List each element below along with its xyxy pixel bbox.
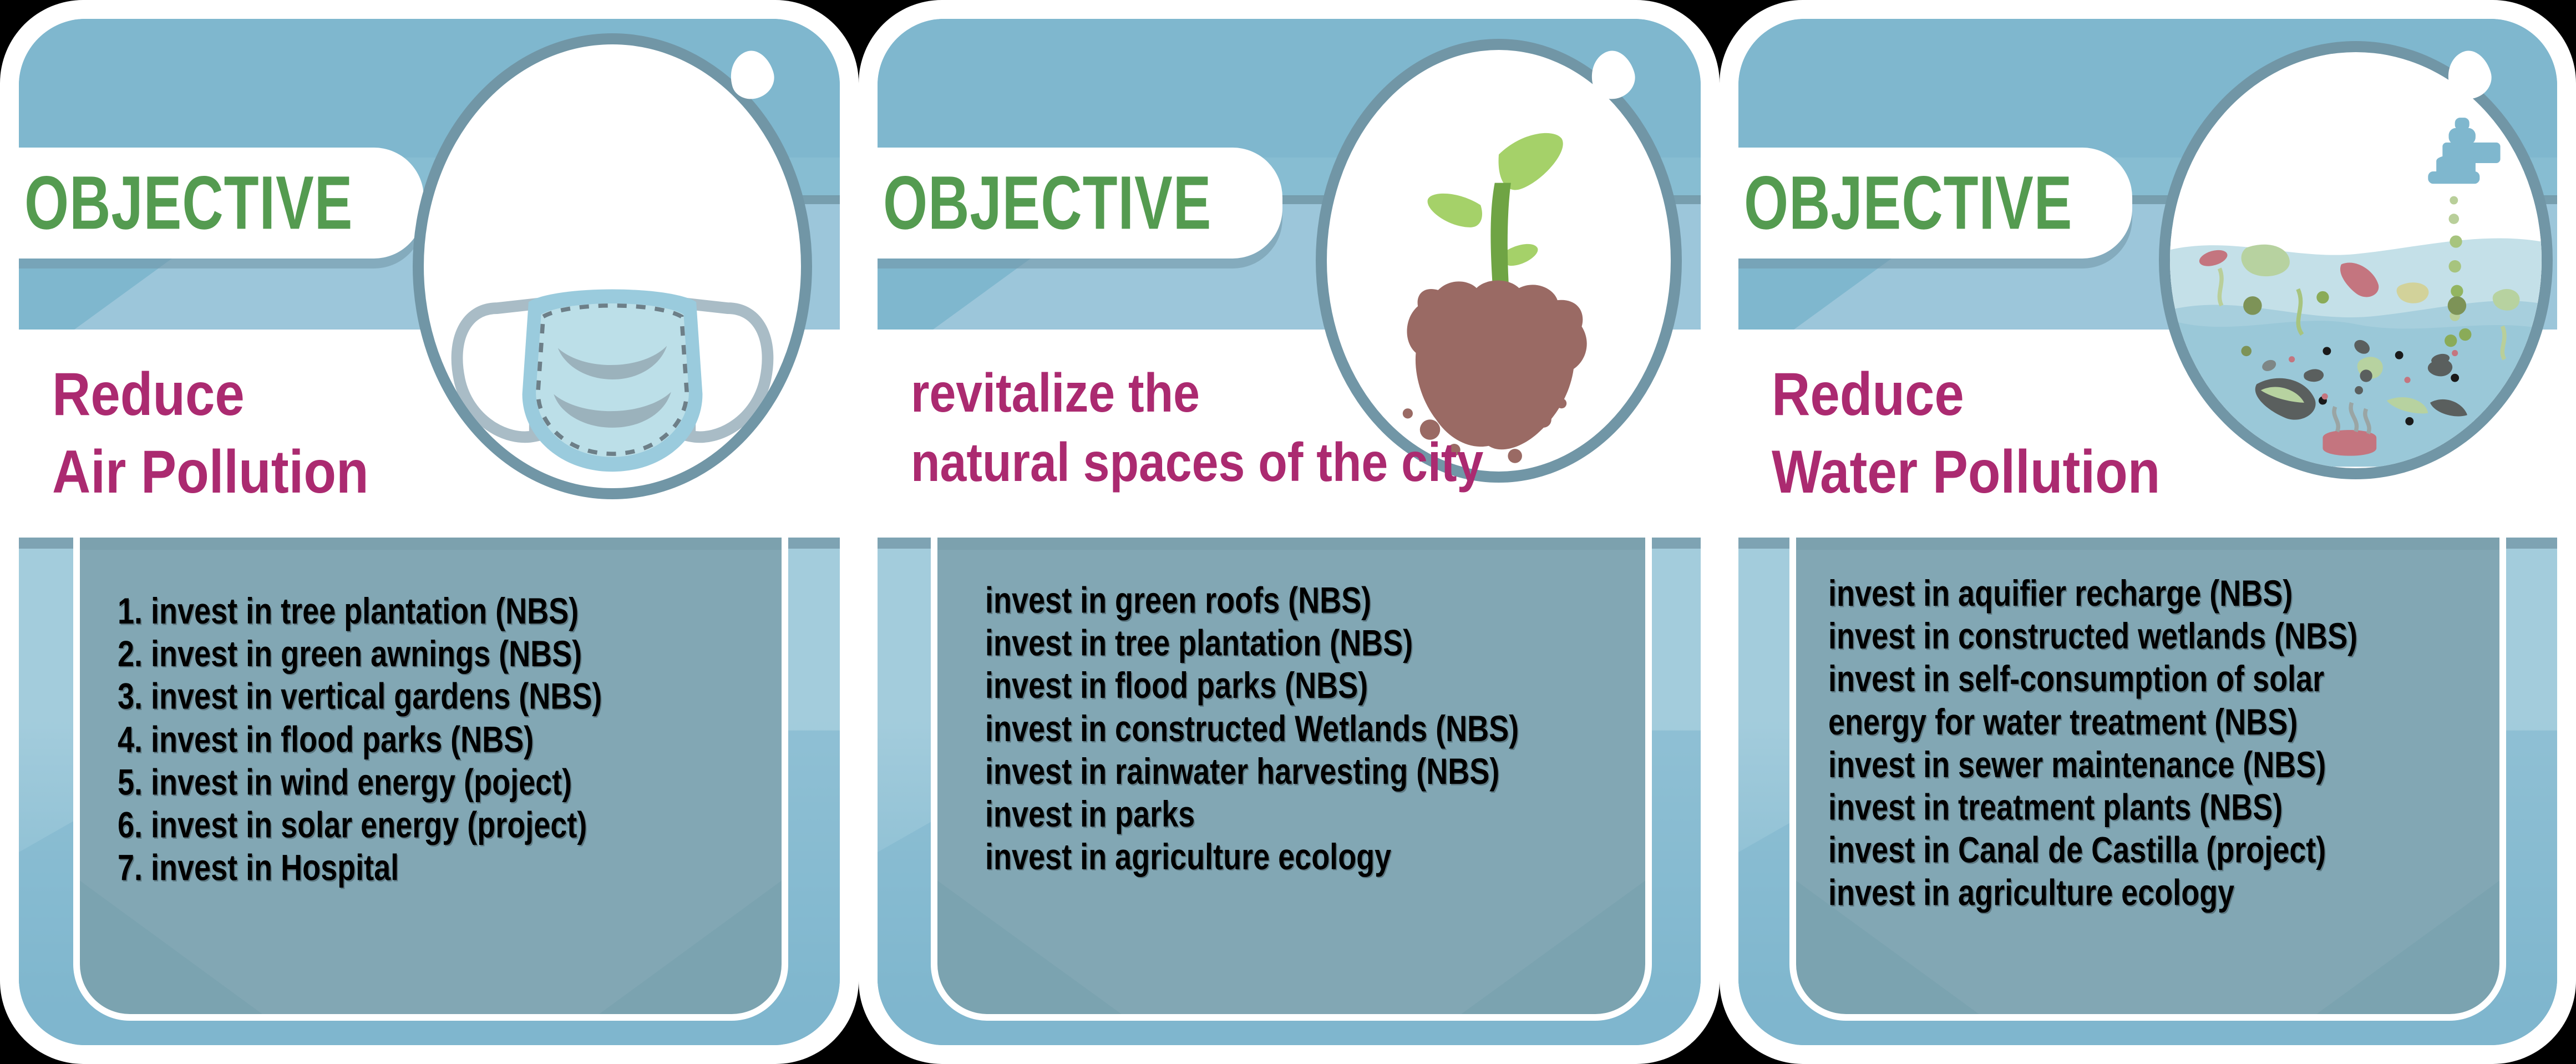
objective-card-water-pollution: OBJECTIVE [1720, 0, 2576, 1064]
measures-panel-wrap: 1. invest in tree plantation (NBS)2. inv… [19, 538, 840, 1045]
measure-item: energy for water treatment (NBS) [1828, 701, 2499, 744]
objective-ribbon: OBJECTIVE [1738, 148, 2132, 259]
page-title: Reduce Water Pollution [1757, 356, 2538, 511]
page-title: revitalize the natural spaces of the cit… [896, 358, 1682, 498]
measure-item: invest in constructed wetlands (NBS) [1828, 616, 2499, 658]
measure-item: 5. invest in wind energy (poject) [118, 761, 782, 804]
measure-item: 1. invest in tree plantation (NBS) [118, 590, 782, 633]
measures-inner-panel: 1. invest in tree plantation (NBS)2. inv… [80, 538, 782, 1014]
objective-badge-label: OBJECTIVE [883, 165, 1211, 241]
objective-ribbon: OBJECTIVE [19, 148, 424, 259]
measure-item: invest in constructed Wetlands (NBS) [985, 708, 1645, 751]
measures-inner-panel: invest in aquifier recharge (NBS)invest … [1796, 538, 2499, 1014]
measure-item: 4. invest in flood parks (NBS) [118, 718, 782, 761]
measure-item: 6. invest in solar energy (project) [118, 804, 782, 847]
card-body: OBJECTIVE [878, 19, 1701, 1045]
measure-item: invest in agriculture ecology [985, 836, 1645, 879]
measure-item: 7. invest in Hospital [118, 847, 782, 890]
measure-item: invest in agriculture ecology [1828, 872, 2499, 915]
card-body: OBJECTIVE Reduce Air Pollution [19, 19, 840, 1045]
measure-item: 2. invest in green awnings (NBS) [118, 633, 782, 676]
objective-card-air-pollution: OBJECTIVE Reduce Air Pollution [0, 0, 859, 1064]
measures-panel-wrap: invest in green roofs (NBS)invest in tre… [878, 538, 1701, 1045]
measure-item: 3. invest in vertical gardens (NBS) [118, 676, 782, 718]
measures-inner-panel: invest in green roofs (NBS)invest in tre… [937, 538, 1645, 1014]
objectives-board: OBJECTIVE Reduce Air Pollution [0, 0, 2576, 1064]
objective-badge-label: OBJECTIVE [24, 165, 353, 241]
measure-item: invest in tree plantation (NBS) [985, 622, 1645, 665]
measure-item: invest in Canal de Castilla (project) [1828, 829, 2499, 872]
measures-list: invest in green roofs (NBS)invest in tre… [937, 538, 1645, 879]
measure-item: invest in sewer maintenance (NBS) [1828, 744, 2499, 787]
measure-item: invest in self-consumption of solar [1828, 658, 2499, 701]
objective-ribbon: OBJECTIVE [878, 148, 1282, 259]
objective-badge-label: OBJECTIVE [1744, 165, 2072, 241]
water-droplet-icon [2447, 51, 2491, 110]
page-title: Reduce Air Pollution [38, 356, 821, 511]
measure-item: invest in aquifier recharge (NBS) [1828, 572, 2499, 615]
card-body: OBJECTIVE [1738, 19, 2557, 1045]
measure-item: invest in rainwater harvesting (NBS) [985, 751, 1645, 793]
measures-panel-wrap: invest in aquifier recharge (NBS)invest … [1738, 538, 2557, 1045]
measure-item: invest in green roofs (NBS) [985, 580, 1645, 622]
measure-item: invest in treatment plants (NBS) [1828, 787, 2499, 829]
water-droplet-icon [1591, 51, 1634, 110]
objective-card-natural-spaces: OBJECTIVE [859, 0, 1720, 1064]
measures-list: invest in aquifier recharge (NBS)invest … [1796, 538, 2499, 915]
measures-list: 1. invest in tree plantation (NBS)2. inv… [80, 538, 782, 890]
measure-item: invest in flood parks (NBS) [985, 665, 1645, 708]
water-droplet-icon [730, 51, 773, 110]
measure-item: invest in parks [985, 793, 1645, 836]
